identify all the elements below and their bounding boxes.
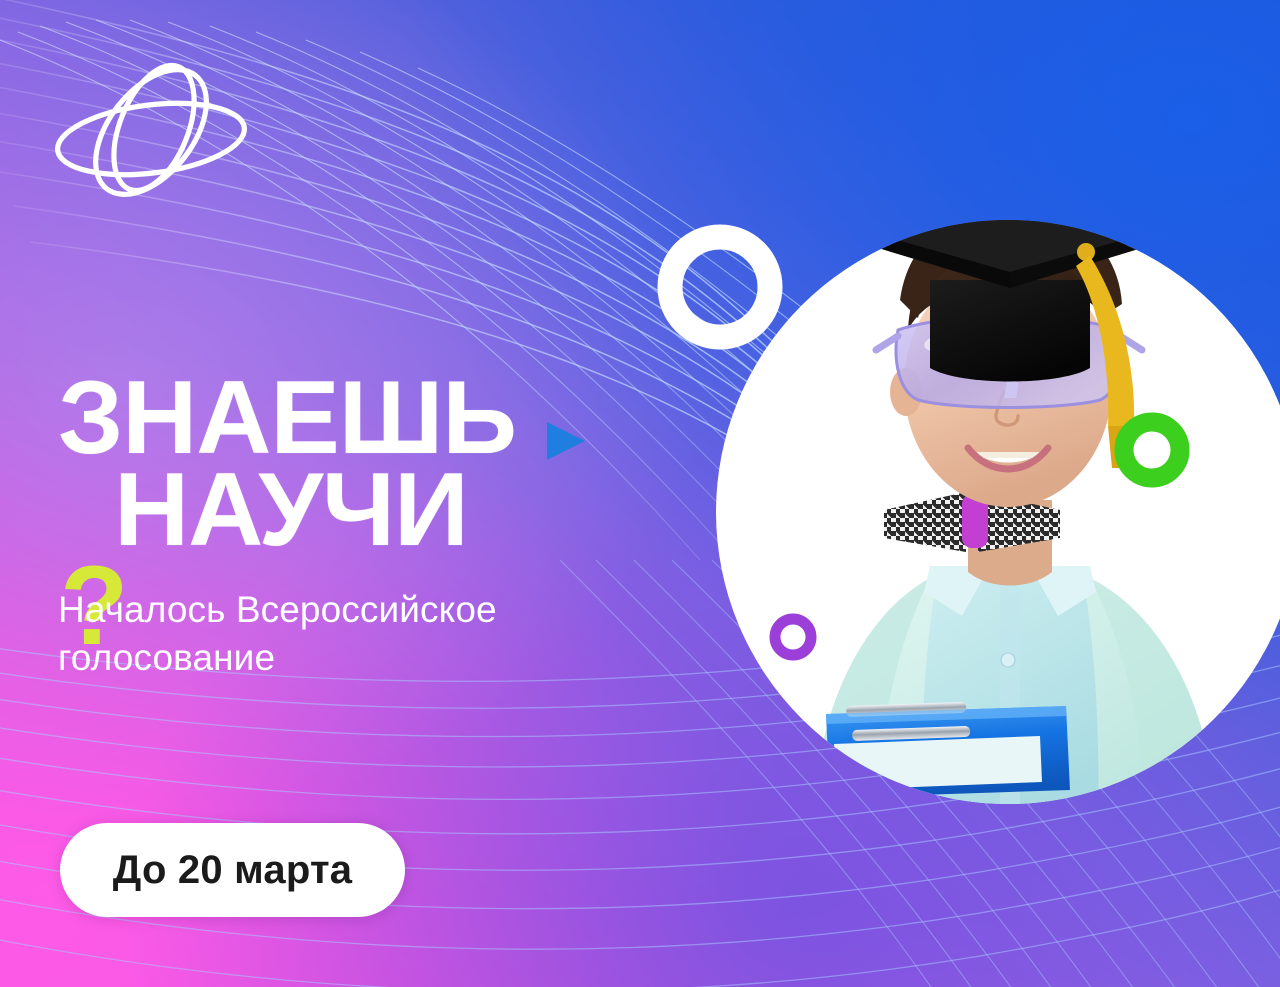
subtitle: Началось Всероссийское голосование — [58, 586, 658, 682]
deadline-cta-label: До 20 марта — [113, 848, 352, 893]
subtitle-line-2: голосование — [58, 634, 658, 682]
subtitle-line-1: Началось Всероссийское — [58, 586, 658, 634]
play-triangle-icon — [541, 418, 589, 469]
promo-banner: ЗНАЕШЬ НАУЧИ ? Началось Всероссийское го… — [0, 0, 1280, 987]
deadline-cta-button[interactable]: До 20 марта — [60, 823, 405, 917]
atom-orbital-icon — [48, 56, 258, 206]
